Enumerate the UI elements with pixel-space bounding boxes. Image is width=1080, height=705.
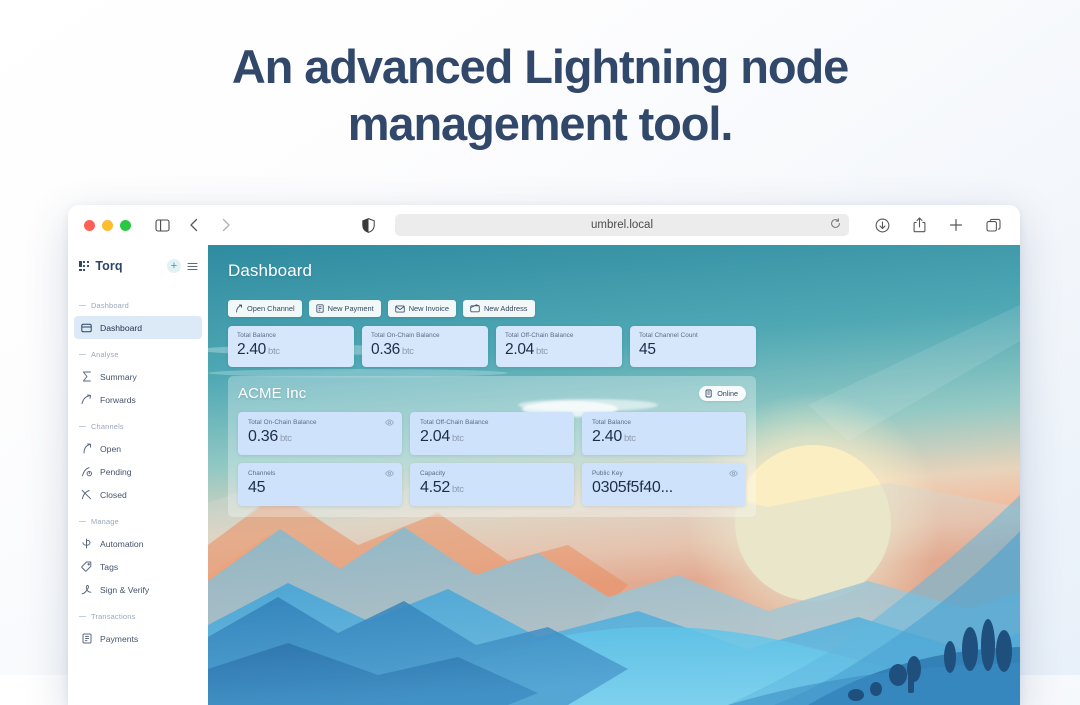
sidebar-item-label: Open: [100, 444, 121, 454]
browser-toolbar: umbrel.local: [68, 205, 1020, 245]
node-card-total-balance[interactable]: Total Balance 2.40btc: [582, 412, 746, 455]
sidebar-section-transactions: Transactions: [68, 601, 208, 627]
section-label: Analyse: [91, 350, 119, 359]
closed-channel-icon: [81, 489, 92, 500]
section-dash-icon: [79, 354, 86, 355]
section-label: Manage: [91, 517, 119, 526]
node-stat-grid: Total On-Chain Balance 0.36btc Total Off…: [238, 412, 746, 506]
stat-number: 2.04: [505, 341, 534, 358]
stat-unit: btc: [280, 433, 292, 444]
stat-card-total-offchain-balance[interactable]: Total Off-Chain Balance 2.04btc: [496, 326, 622, 367]
stat-value: 45: [639, 341, 747, 359]
node-card-total-offchain-balance[interactable]: Total Off-Chain Balance 2.04btc: [410, 412, 574, 455]
new-invoice-icon: [395, 305, 405, 313]
section-label: Transactions: [91, 612, 135, 621]
sidebar-item-label: Closed: [100, 490, 127, 500]
sidebar-item-summary[interactable]: Summary: [74, 365, 202, 388]
status-text: Online: [717, 389, 738, 398]
sidebar-section-analyse: Analyse: [68, 339, 208, 365]
share-icon[interactable]: [908, 214, 930, 236]
stat-unit: btc: [452, 433, 464, 444]
dashboard-icon: [81, 322, 92, 333]
sidebar-item-label: Automation: [100, 539, 143, 549]
sidebar-item-payments[interactable]: Payments: [74, 627, 202, 650]
dashboard-action-bar: Open Channel New Payment New Invoice: [228, 300, 1006, 317]
stat-number: 0305f5f40...: [592, 479, 673, 496]
stat-value: 2.04btc: [505, 341, 613, 359]
sidebar-nav: Dashboard Dashboard Analyse Summar: [68, 278, 208, 650]
sigma-icon: [81, 371, 92, 382]
section-dash-icon: [79, 426, 86, 427]
new-address-button[interactable]: New Address: [463, 300, 535, 317]
stat-label: Total On-Chain Balance: [248, 419, 392, 426]
back-arrow-icon[interactable]: [183, 214, 205, 236]
stat-number: 45: [639, 341, 656, 358]
dashboard-content: Dashboard Open Channel New Payment: [208, 245, 1020, 705]
stat-label: Total Balance: [237, 332, 345, 339]
stat-unit: btc: [452, 484, 464, 495]
stat-card-total-onchain-balance[interactable]: Total On-Chain Balance 0.36btc: [362, 326, 488, 367]
open-channel-icon: [81, 443, 92, 454]
stat-number: 2.40: [237, 341, 266, 358]
stat-label: Channels: [248, 470, 392, 477]
sidebar-item-label: Sign & Verify: [100, 585, 149, 595]
stat-unit: btc: [624, 433, 636, 444]
stat-value: 2.40btc: [237, 341, 345, 359]
stat-label: Public Key: [592, 470, 736, 477]
stat-value: 0305f5f40...: [592, 479, 736, 497]
privacy-shield-icon[interactable]: [357, 214, 379, 236]
pending-channel-icon: [81, 466, 92, 477]
sign-verify-icon: [81, 584, 92, 595]
stat-label: Total On-Chain Balance: [371, 332, 479, 339]
sidebar-section-channels: Channels: [68, 411, 208, 437]
node-card-capacity[interactable]: Capacity 4.52btc: [410, 463, 574, 506]
brand-name: Torq: [95, 259, 161, 273]
stat-label: Capacity: [420, 470, 564, 477]
forward-arrow-icon[interactable]: [215, 214, 237, 236]
eye-icon[interactable]: [729, 470, 738, 477]
sidebar-item-tags[interactable]: Tags: [74, 555, 202, 578]
open-channel-button[interactable]: Open Channel: [228, 300, 302, 317]
section-label: Dashboard: [91, 301, 129, 310]
stat-value: 0.36btc: [371, 341, 479, 359]
sidebar-item-automation[interactable]: Automation: [74, 532, 202, 555]
sidebar-item-label: Summary: [100, 372, 137, 382]
stat-value: 45: [248, 479, 392, 497]
stat-unit: btc: [402, 346, 414, 357]
browser-toolbar-right: [871, 214, 1004, 236]
eye-icon[interactable]: [385, 419, 394, 426]
section-dash-icon: [79, 521, 86, 522]
action-label: New Invoice: [409, 304, 449, 313]
stat-number: 45: [248, 479, 265, 496]
stat-unit: btc: [536, 346, 548, 357]
forwards-arrow-icon: [81, 394, 92, 405]
hamburger-menu-icon[interactable]: [187, 262, 198, 271]
sidebar-item-pending[interactable]: Pending: [74, 460, 202, 483]
new-invoice-button[interactable]: New Invoice: [388, 300, 456, 317]
sidebar-item-label: Dashboard: [100, 323, 142, 333]
page-title: Dashboard: [222, 257, 1006, 281]
node-name: ACME Inc: [238, 385, 306, 402]
section-label: Channels: [91, 422, 124, 431]
torq-app: Torq + Dashboard Dashboard: [68, 245, 1020, 705]
app-main: Dashboard Open Channel New Payment: [208, 245, 1020, 705]
reload-icon[interactable]: [830, 216, 841, 234]
sidebar-item-label: Tags: [100, 562, 118, 572]
stat-label: Total Channel Count: [639, 332, 747, 339]
sidebar-item-label: Payments: [100, 634, 138, 644]
stat-value: 2.04btc: [420, 428, 564, 446]
stat-value: 0.36btc: [248, 428, 392, 446]
stat-value: 4.52btc: [420, 479, 564, 497]
stat-label: Total Off-Chain Balance: [505, 332, 613, 339]
plus-icon[interactable]: [945, 214, 967, 236]
action-label: New Payment: [328, 304, 374, 313]
address-bar[interactable]: umbrel.local: [395, 214, 849, 236]
url-text: umbrel.local: [591, 219, 653, 231]
download-icon[interactable]: [871, 214, 893, 236]
sidebar-item-open[interactable]: Open: [74, 437, 202, 460]
stat-card-total-channel-count[interactable]: Total Channel Count 45: [630, 326, 756, 367]
sidebar-item-dashboard[interactable]: Dashboard: [74, 316, 202, 339]
plus-circle-icon[interactable]: +: [167, 259, 181, 273]
stat-number: 0.36: [371, 341, 400, 358]
node-card-channels[interactable]: Channels 45: [238, 463, 402, 506]
node-card-total-onchain-balance[interactable]: Total On-Chain Balance 0.36btc: [238, 412, 402, 455]
app-sidebar: Torq + Dashboard Dashboard: [68, 245, 208, 705]
action-label: Open Channel: [247, 304, 295, 313]
browser-window: umbrel.local: [68, 205, 1020, 705]
close-window-button[interactable]: [84, 220, 95, 231]
stat-unit: btc: [268, 346, 280, 357]
sidebar-item-label: Pending: [100, 467, 132, 477]
open-channel-icon: [235, 304, 243, 313]
sidebar-item-closed[interactable]: Closed: [74, 483, 202, 506]
brand-header: Torq +: [68, 254, 208, 278]
sidebar-toggle-icon[interactable]: [151, 214, 173, 236]
payments-icon: [81, 633, 92, 644]
stat-number: 2.04: [420, 428, 450, 445]
stat-value: 2.40btc: [592, 428, 736, 446]
summary-stat-cards: Total Balance 2.40btc Total On-Chain Bal…: [228, 326, 1006, 367]
stat-number: 0.36: [248, 428, 278, 445]
automation-icon: [81, 538, 92, 549]
new-payment-button[interactable]: New Payment: [309, 300, 381, 317]
tag-icon: [81, 561, 92, 572]
sidebar-section-manage: Manage: [68, 506, 208, 532]
stat-number: 2.40: [592, 428, 622, 445]
stat-label: Total Balance: [592, 419, 736, 426]
sidebar-section-dashboard: Dashboard: [68, 290, 208, 316]
section-dash-icon: [79, 616, 86, 617]
stat-card-total-balance[interactable]: Total Balance 2.40btc: [228, 326, 354, 367]
torq-logo-icon: [79, 261, 89, 271]
node-header: ACME Inc Online: [238, 385, 746, 402]
headline-line-1: An advanced Lightning node: [232, 40, 848, 93]
node-panel: ACME Inc Online Total On-Chain Balance 0…: [228, 376, 756, 517]
sidebar-item-forwards[interactable]: Forwards: [74, 388, 202, 411]
sidebar-item-sign-verify[interactable]: Sign & Verify: [74, 578, 202, 601]
new-payment-icon: [316, 304, 324, 313]
window-traffic-lights: [84, 220, 131, 231]
stat-label: Total Off-Chain Balance: [420, 419, 564, 426]
sidebar-item-label: Forwards: [100, 395, 136, 405]
new-address-icon: [470, 304, 480, 313]
action-label: New Address: [484, 304, 528, 313]
zoom-window-button[interactable]: [120, 220, 131, 231]
minimize-window-button[interactable]: [102, 220, 113, 231]
section-dash-icon: [79, 305, 86, 306]
tab-overview-icon[interactable]: [982, 214, 1004, 236]
node-online-icon: [705, 389, 713, 398]
page-headline: An advanced Lightning node management to…: [0, 0, 1080, 153]
eye-icon[interactable]: [385, 470, 394, 477]
stat-number: 4.52: [420, 479, 450, 496]
headline-line-2: management tool.: [0, 95, 1080, 152]
status-badge: Online: [699, 386, 746, 401]
node-card-public-key[interactable]: Public Key 0305f5f40...: [582, 463, 746, 506]
